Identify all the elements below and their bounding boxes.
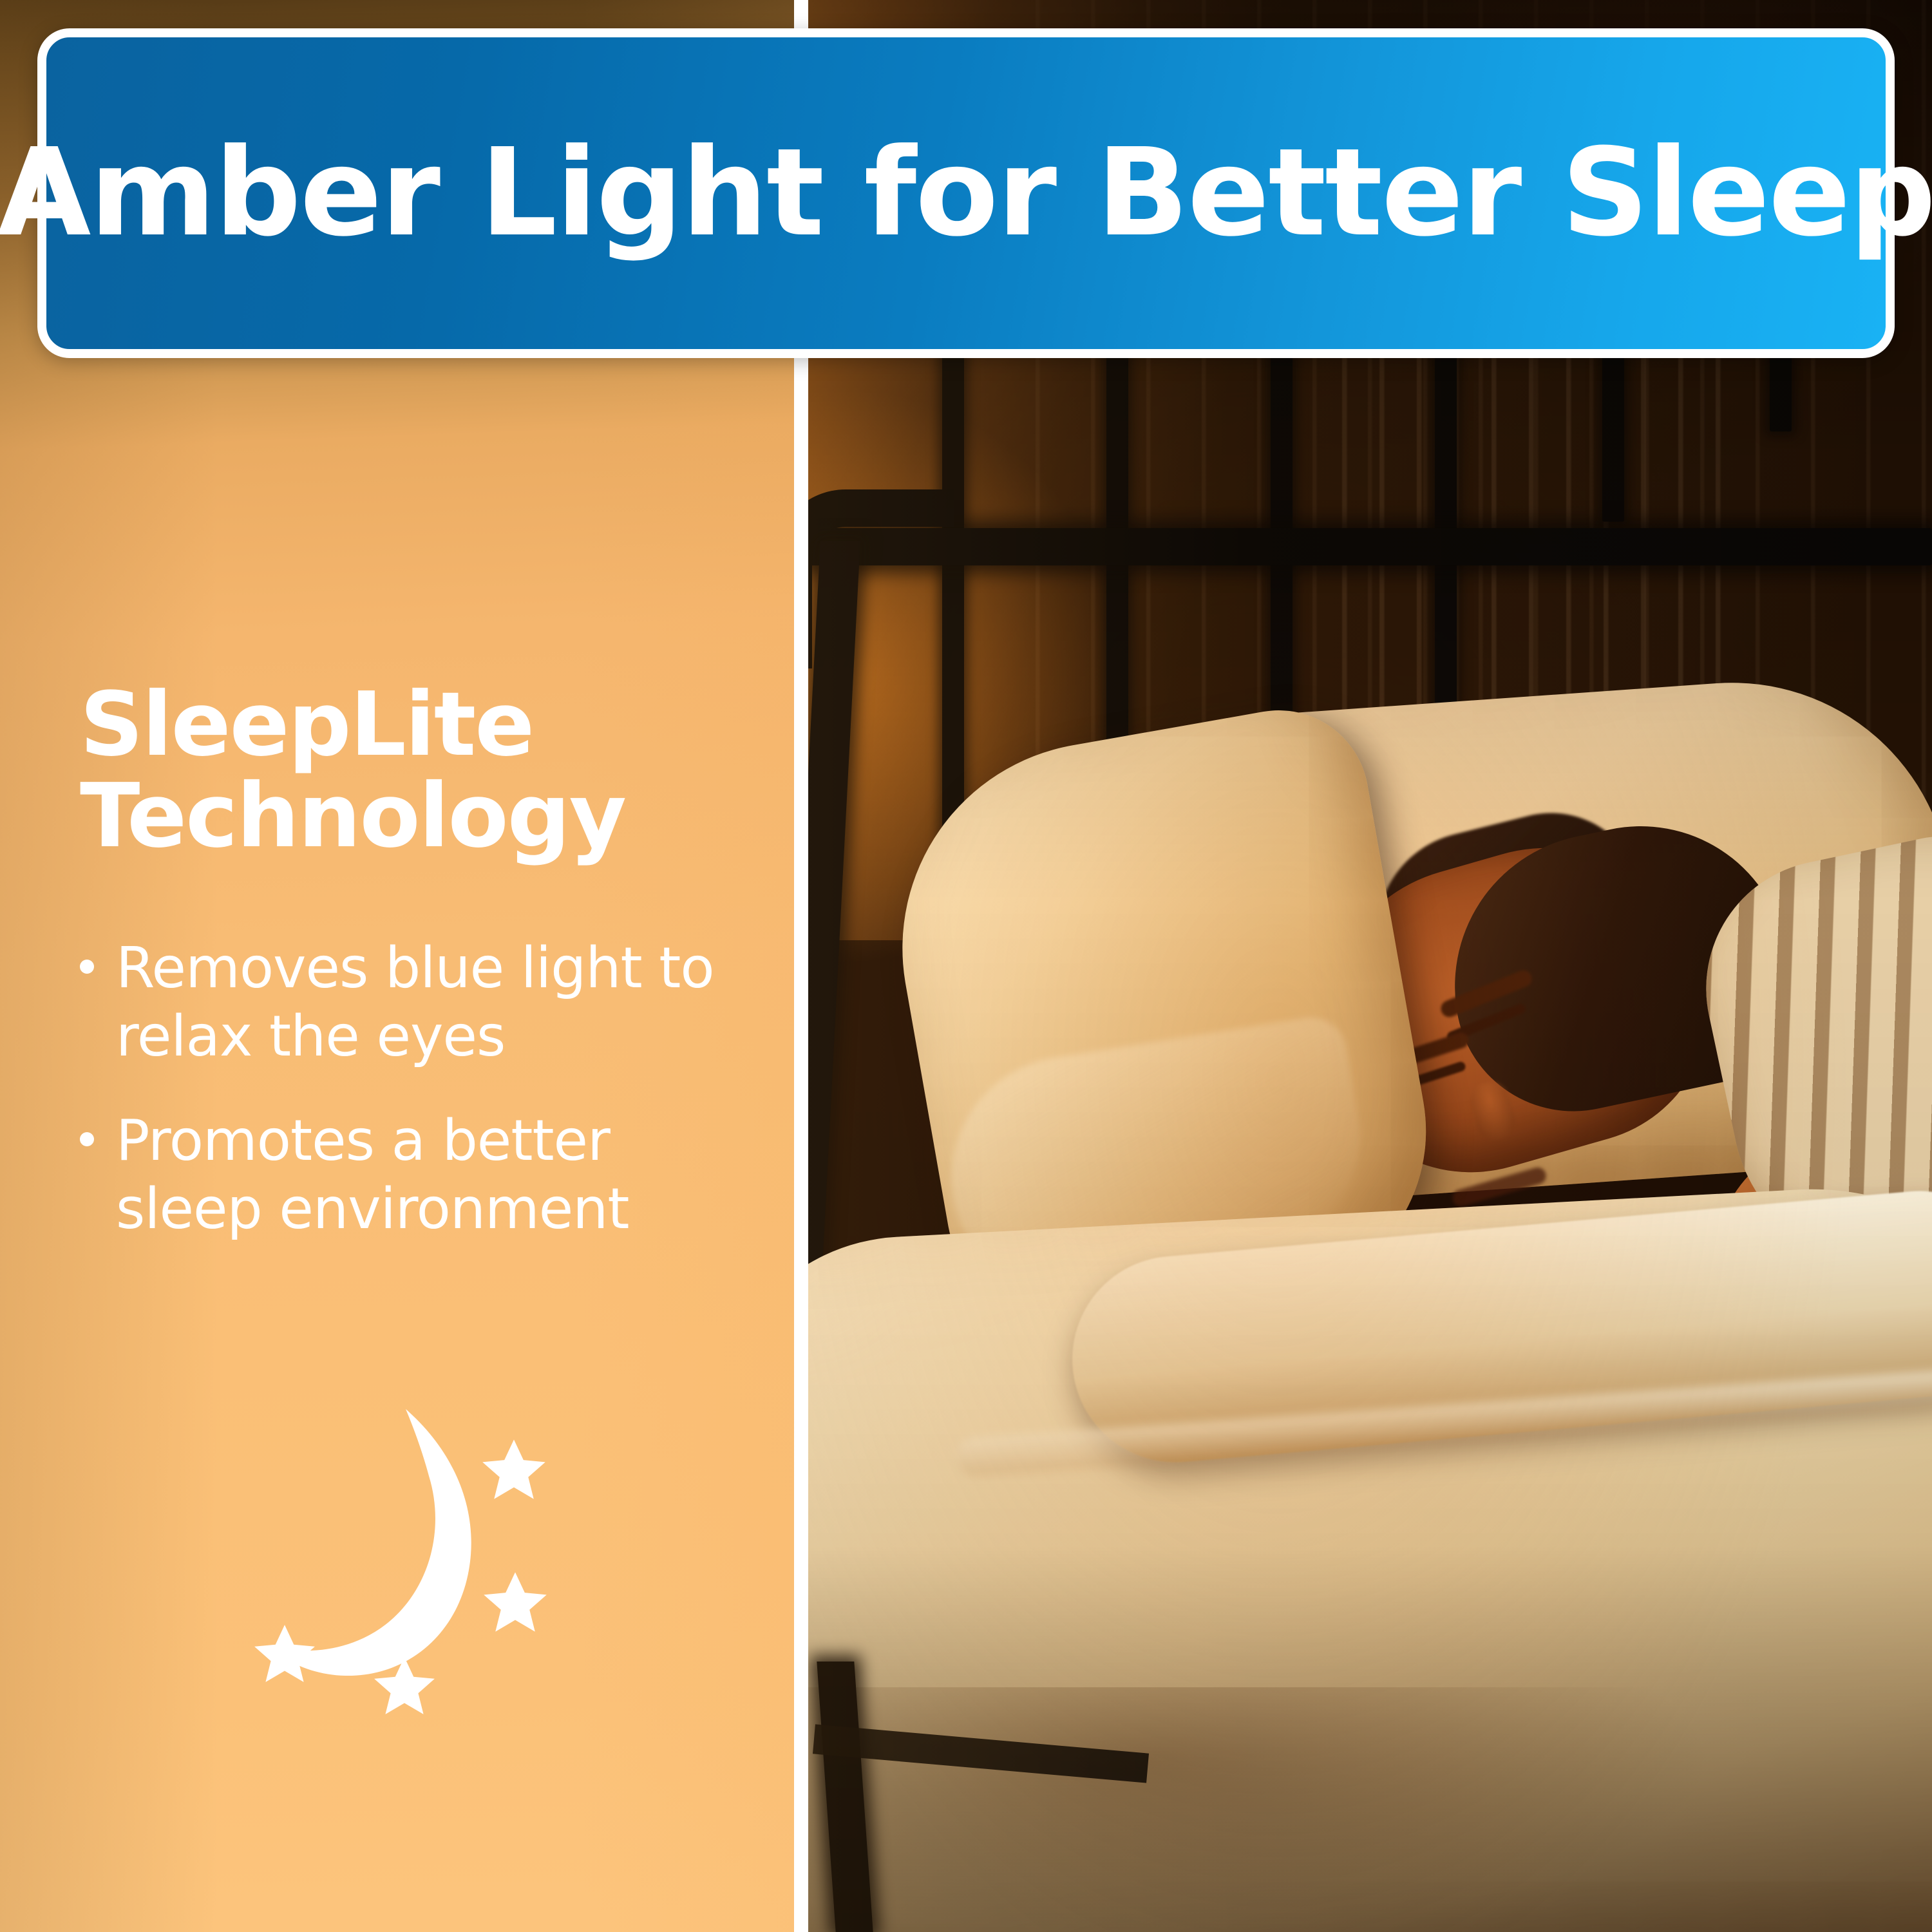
bullet-text: Removes blue light to relax the eyes <box>116 934 737 1070</box>
crescent-moon-shape <box>268 1409 471 1676</box>
bullet-dot-icon <box>80 960 94 974</box>
star-icon <box>254 1625 315 1682</box>
star-icon <box>484 1572 547 1631</box>
bullet-dot-icon <box>80 1132 94 1146</box>
list-item: Promotes a better sleep environment <box>80 1106 737 1243</box>
section-heading: SleepLite Technology <box>80 679 762 863</box>
list-item: Removes blue light to relax the eyes <box>80 934 737 1070</box>
moon-and-stars-icon <box>213 1397 586 1771</box>
poster-canvas: Amber Light for Better Sleep SleepLite T… <box>0 0 1932 1932</box>
star-icon <box>482 1439 545 1499</box>
bullet-text: Promotes a better sleep environment <box>116 1106 737 1243</box>
header-banner: Amber Light for Better Sleep <box>37 28 1895 358</box>
duvet-shadow <box>800 1687 1715 1932</box>
feature-bullet-list: Removes blue light to relax the eyes Pro… <box>80 934 737 1280</box>
headboard-cross-rail <box>800 528 1932 565</box>
banner-title: Amber Light for Better Sleep <box>0 133 1932 254</box>
